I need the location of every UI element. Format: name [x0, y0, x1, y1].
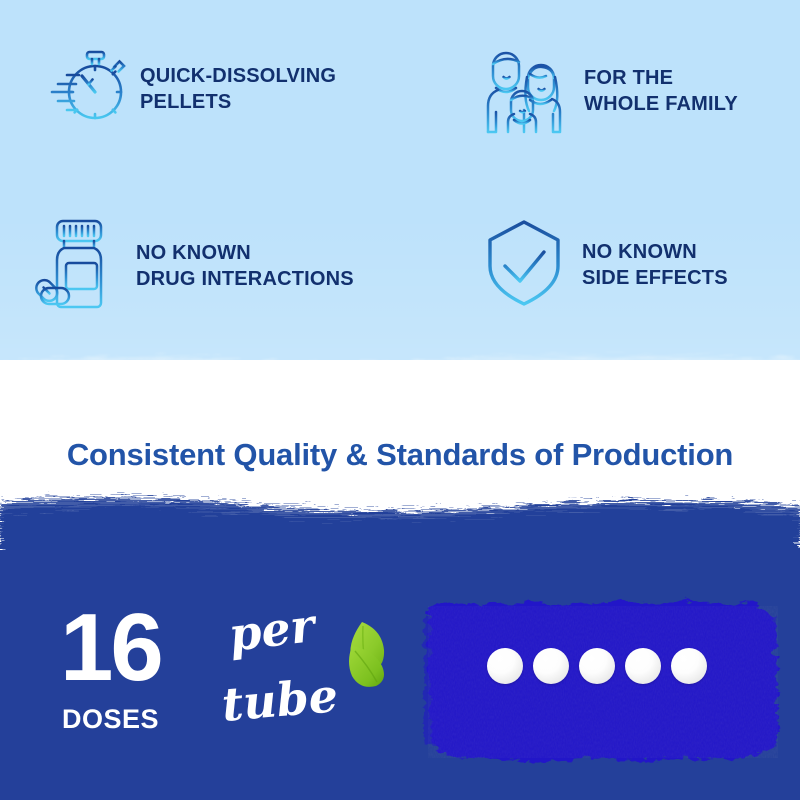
feature-label: QUICK-DISSOLVING PELLETS — [140, 64, 336, 115]
family-icon — [478, 44, 570, 139]
script-per: per — [226, 602, 317, 658]
feature-label: FOR THE WHOLE FAMILY — [584, 66, 738, 117]
feature-quick-dissolving-pellets: QUICK-DISSOLVING PELLETS — [48, 44, 336, 135]
feature-no-known-side-effects: NO KNOWN SIDE EFFECTS — [480, 216, 728, 315]
page-headline: Consistent Quality & Standards of Produc… — [0, 437, 800, 473]
dose-callout: 16 DOSES per tube — [56, 604, 386, 754]
pellet-icon — [487, 648, 523, 684]
feature-no-known-drug-interactions: NO KNOWN DRUG INTERACTIONS — [30, 216, 354, 317]
pellet-icon — [625, 648, 661, 684]
pellet-icon — [533, 648, 569, 684]
leaf-icon — [322, 618, 392, 697]
pellet-icon — [671, 648, 707, 684]
stopwatch-icon — [48, 44, 126, 135]
paint-stroke-patch — [410, 582, 800, 787]
pellet-row — [487, 648, 707, 684]
feature-for-the-whole-family: FOR THE WHOLE FAMILY — [478, 44, 738, 139]
shield-check-icon — [480, 216, 568, 315]
pill-bottle-icon — [30, 216, 122, 317]
dose-unit-label: DOSES — [62, 704, 159, 735]
pellet-icon — [579, 648, 615, 684]
feature-label: NO KNOWN DRUG INTERACTIONS — [136, 241, 354, 292]
infographic-page: QUICK-DISSOLVING PELLETS — [0, 0, 800, 800]
dose-count: 16 — [60, 600, 161, 696]
feature-label: NO KNOWN SIDE EFFECTS — [582, 240, 728, 291]
